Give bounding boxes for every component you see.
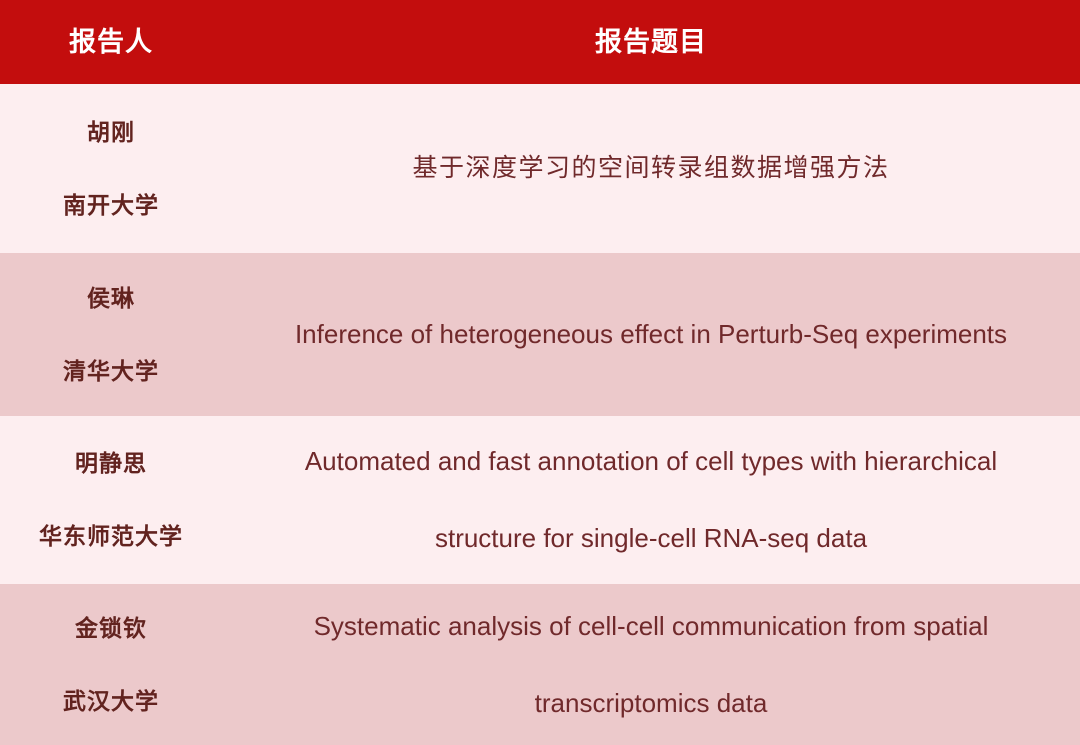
talk-title-line: Automated and fast annotation of cell ty…: [305, 447, 997, 476]
talk-title-cell: Systematic analysis of cell-cell communi…: [222, 584, 1080, 745]
speaker-cell: 金锁钦 武汉大学: [0, 584, 222, 745]
talk-title-line: Inference of heterogeneous effect in Per…: [295, 320, 1007, 349]
speaker-name: 金锁钦: [75, 617, 147, 640]
speaker-affiliation: 清华大学: [63, 360, 159, 383]
talk-title-line: transcriptomics data: [535, 689, 768, 718]
speaker-cell: 侯琳 清华大学: [0, 253, 222, 416]
talk-title-line: 基于深度学习的空间转录组数据增强方法: [412, 155, 889, 183]
talk-title-cell: 基于深度学习的空间转录组数据增强方法: [222, 84, 1080, 253]
speaker-name: 明静思: [75, 452, 147, 475]
speaker-affiliation: 华东师范大学: [39, 525, 183, 548]
column-header-speaker: 报告人: [0, 29, 222, 56]
talk-title-line: structure for single-cell RNA-seq data: [435, 524, 867, 553]
speaker-affiliation: 南开大学: [63, 194, 159, 217]
table-row: 侯琳 清华大学 Inference of heterogeneous effec…: [0, 253, 1080, 416]
schedule-table: 报告人 报告题目 胡刚 南开大学 基于深度学习的空间转录组数据增强方法 侯琳 清…: [0, 0, 1080, 745]
table-row: 明静思 华东师范大学 Automated and fast annotation…: [0, 416, 1080, 584]
talk-title-cell: Automated and fast annotation of cell ty…: [222, 416, 1080, 584]
speaker-name: 胡刚: [87, 121, 135, 144]
speaker-cell: 明静思 华东师范大学: [0, 416, 222, 584]
table-row: 胡刚 南开大学 基于深度学习的空间转录组数据增强方法: [0, 84, 1080, 253]
speaker-affiliation: 武汉大学: [63, 690, 159, 713]
speaker-cell: 胡刚 南开大学: [0, 84, 222, 253]
speaker-name: 侯琳: [87, 287, 135, 310]
table-row: 金锁钦 武汉大学 Systematic analysis of cell-cel…: [0, 584, 1080, 745]
talk-title-cell: Inference of heterogeneous effect in Per…: [222, 253, 1080, 416]
column-header-title: 报告题目: [222, 29, 1080, 56]
table-header-row: 报告人 报告题目: [0, 0, 1080, 84]
talk-title-line: Systematic analysis of cell-cell communi…: [314, 612, 989, 641]
